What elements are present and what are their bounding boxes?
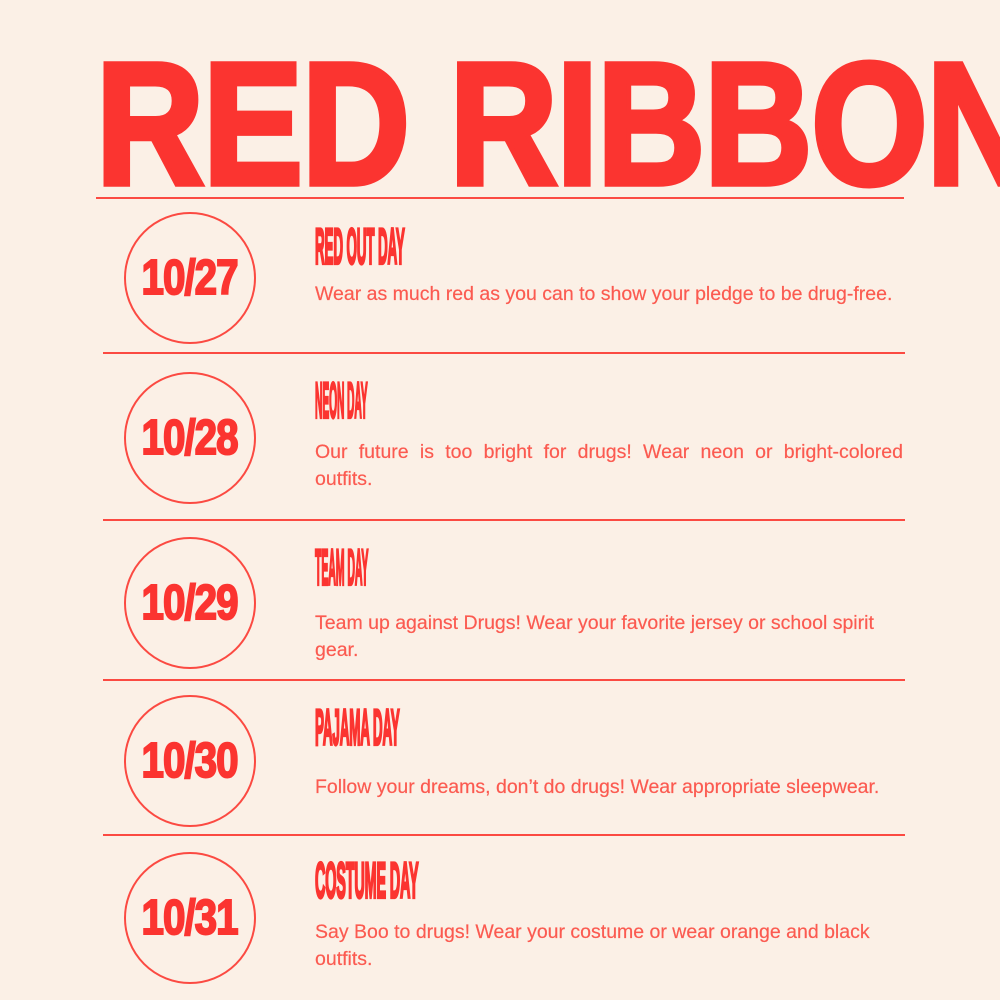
schedule-row[interactable]: 10/29 TEAM DAY Team up against Drugs! We… <box>0 521 1000 681</box>
date-badge-label: 10/27 <box>142 254 238 303</box>
day-title: RED OUT DAY <box>315 222 508 272</box>
date-badge-label: 10/31 <box>142 894 238 943</box>
page-title: RED RIBBON WEEK <box>96 40 904 209</box>
schedule-row-content: NEON DAY Our future is too bright for dr… <box>315 366 903 493</box>
schedule-row-content: COSTUME DAY Say Boo to drugs! Wear your … <box>315 848 903 973</box>
day-title: COSTUME DAY <box>315 856 522 906</box>
schedule-row[interactable]: 10/28 NEON DAY Our future is too bright … <box>0 354 1000 521</box>
date-badge-label: 10/29 <box>142 579 238 628</box>
schedule-row[interactable]: 10/30 PAJAMA DAY Follow your dreams, don… <box>0 681 1000 836</box>
title-block: RED RIBBON WEEK <box>96 40 906 186</box>
title-underline-rule <box>96 197 904 199</box>
schedule-row[interactable]: 10/27 RED OUT DAY Wear as much red as yo… <box>0 200 1000 354</box>
day-description: Our future is too bright for drugs! Wear… <box>315 439 903 493</box>
day-description: Wear as much red as you can to show your… <box>315 281 903 308</box>
day-title: TEAM DAY <box>315 543 467 593</box>
day-title: NEON DAY <box>315 376 463 426</box>
date-badge: 10/28 <box>124 372 256 504</box>
date-badge-label: 10/28 <box>142 414 238 463</box>
day-title: PAJAMA DAY <box>315 703 508 753</box>
schedule-row-content: TEAM DAY Team up against Drugs! Wear you… <box>315 533 903 664</box>
date-badge: 10/29 <box>124 537 256 669</box>
day-description: Team up against Drugs! Wear your favorit… <box>315 610 903 664</box>
date-badge-label: 10/30 <box>142 737 238 786</box>
date-badge: 10/30 <box>124 695 256 827</box>
date-badge: 10/27 <box>124 212 256 344</box>
red-ribbon-week-poster: RED RIBBON WEEK 10/27 RED OUT DAY Wear a… <box>0 0 1000 1000</box>
schedule-row[interactable]: 10/31 COSTUME DAY Say Boo to drugs! Wear… <box>0 836 1000 996</box>
schedule-row-content: PAJAMA DAY Follow your dreams, don’t do … <box>315 693 903 801</box>
date-badge: 10/31 <box>124 852 256 984</box>
day-description: Say Boo to drugs! Wear your costume or w… <box>315 919 903 973</box>
day-description: Follow your dreams, don’t do drugs! Wear… <box>315 774 903 801</box>
schedule-row-content: RED OUT DAY Wear as much red as you can … <box>315 208 903 308</box>
schedule-list: 10/27 RED OUT DAY Wear as much red as yo… <box>0 200 1000 996</box>
